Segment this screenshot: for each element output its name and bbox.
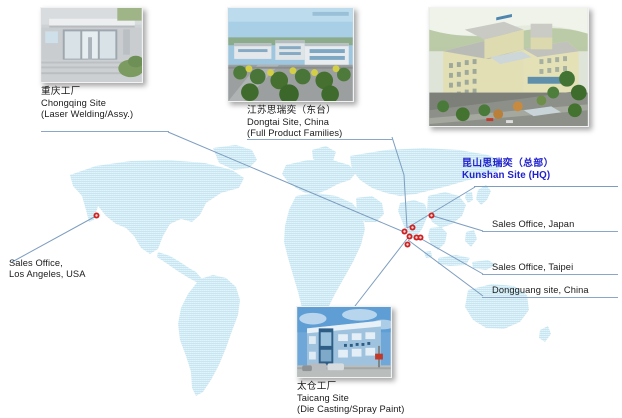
label-chongqing-detail: (Laser Welding/Assy.) xyxy=(41,109,133,120)
label-dongguang-site: Dongguang site, China xyxy=(492,285,589,296)
label-sales-office-taipei: Sales Office, Taipei xyxy=(492,262,573,273)
label-chongqing-site: 重庆工厂 Chongqing Site (Laser Welding/Assy.… xyxy=(41,86,133,121)
label-kunshan-site: 昆山思瑞奕（总部） Kunshan Site (HQ) xyxy=(462,158,554,182)
label-kunshan-name-cn: 昆山思瑞奕（总部） xyxy=(462,158,554,170)
map-marker-japan xyxy=(428,212,435,219)
label-taicang-site: 太仓工厂 Taicang Site (Die Casting/Spray Pai… xyxy=(297,381,404,416)
label-sales-office-los-angeles: Sales Office, Los Angeles, USA xyxy=(9,258,86,281)
label-dongtai-name-en: Dongtai Site, China xyxy=(247,117,342,128)
label-taipei-text: Sales Office, Taipei xyxy=(492,262,573,273)
photo-taicang-site xyxy=(296,306,392,378)
label-taicang-name-cn: 太仓工厂 xyxy=(297,381,404,393)
label-kunshan-name-en: Kunshan Site (HQ) xyxy=(462,170,554,182)
photo-chongqing-site xyxy=(40,7,143,83)
label-dongguang-text: Dongguang site, China xyxy=(492,285,589,296)
map-marker-taipei xyxy=(417,234,424,241)
label-dongtai-detail: (Full Product Families) xyxy=(247,128,342,139)
map-marker-dongguang xyxy=(404,241,411,248)
label-la-line1: Sales Office, xyxy=(9,258,86,269)
rule-kunshan xyxy=(474,186,618,187)
label-taicang-detail: (Die Casting/Spray Paint) xyxy=(297,404,404,415)
map-marker-dongtai xyxy=(409,224,416,231)
label-taicang-name-en: Taicang Site xyxy=(297,393,404,404)
label-la-line2: Los Angeles, USA xyxy=(9,269,86,280)
label-dongtai-name-cn: 江苏思瑞奕（东台） xyxy=(247,105,342,117)
rule-taipei xyxy=(482,274,618,275)
rule-chongqing xyxy=(41,131,169,132)
map-marker-taicang xyxy=(413,234,420,241)
map-marker-kunshan xyxy=(406,233,413,240)
photo-dongtai-site xyxy=(227,7,354,102)
label-chongqing-name-en: Chongqing Site xyxy=(41,98,133,109)
map-marker-los-angeles xyxy=(93,212,100,219)
rule-japan xyxy=(482,231,618,232)
map-marker-chongqing xyxy=(401,228,408,235)
label-chongqing-name-cn: 重庆工厂 xyxy=(41,86,133,98)
label-dongtai-site: 江苏思瑞奕（东台） Dongtai Site, China (Full Prod… xyxy=(247,105,342,140)
label-sales-office-japan: Sales Office, Japan xyxy=(492,219,574,230)
label-japan-text: Sales Office, Japan xyxy=(492,219,574,230)
photo-kunshan-site xyxy=(428,7,589,127)
rule-dongtai xyxy=(247,139,393,140)
world-site-map: 重庆工厂 Chongqing Site (Laser Welding/Assy.… xyxy=(0,0,622,418)
rule-dongguang xyxy=(482,297,618,298)
